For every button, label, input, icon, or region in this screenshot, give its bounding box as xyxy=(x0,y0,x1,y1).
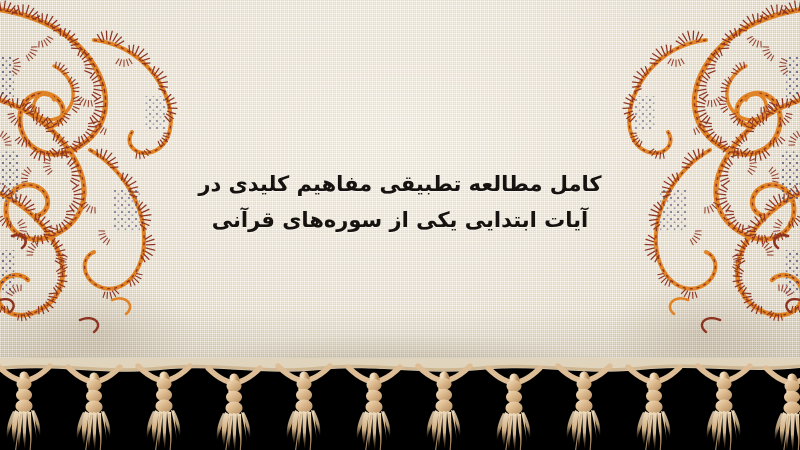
page-title: کامل مطالعه تطبیقی مفاهیم کلیدی در آیات … xyxy=(0,166,800,238)
title-line-1: کامل مطالعه تطبیقی مفاهیم کلیدی در xyxy=(0,166,800,202)
textile-title-card: کامل مطالعه تطبیقی مفاهیم کلیدی در آیات … xyxy=(0,0,800,450)
title-line-2: آیات ابتدایی یکی از سوره‌های قرآنی xyxy=(0,202,800,238)
tassel-fringe xyxy=(0,358,800,450)
